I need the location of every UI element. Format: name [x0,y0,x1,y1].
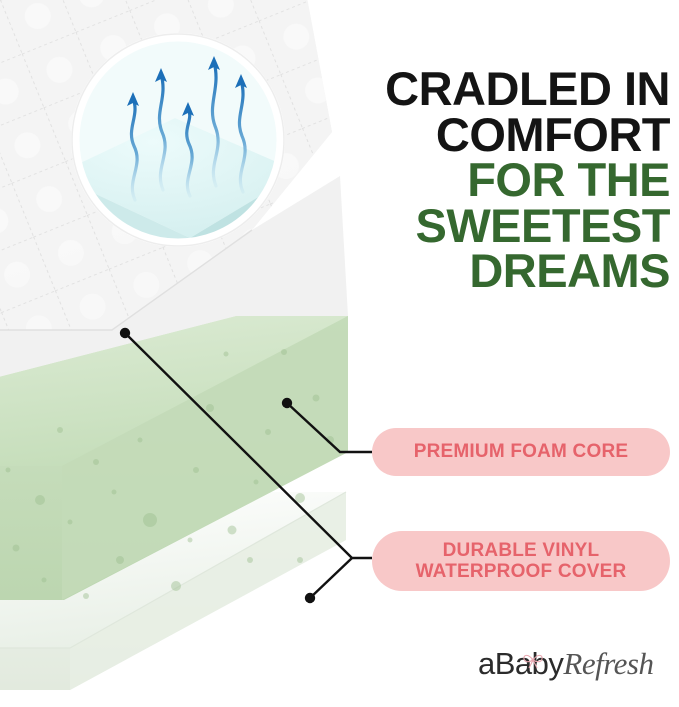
headline: CRADLED IN COMFORT FOR THE SWEETEST DREA… [325,66,670,294]
brand-logo: aBabyRefresh [478,646,668,692]
headline-line-1: CRADLED IN [325,66,670,112]
bow-icon [522,650,544,670]
callout-durable-vinyl-waterproof-cover: DURABLE VINYL WATERPROOF COVER [372,531,670,591]
headline-line-4: SWEETEST [325,203,670,249]
dot-quilted-top [120,328,130,338]
headline-line-5: DREAMS [325,248,670,294]
callout-premium-foam-core-label: PREMIUM FOAM CORE [414,441,629,463]
headline-line-2: COMFORT [325,112,670,158]
logo-prefix: a [478,646,495,681]
callout-vinyl-line-1: DURABLE VINYL [443,540,600,561]
brand-logo-text: aBabyRefresh [478,646,653,682]
headline-line-3: FOR THE [325,157,670,203]
product-infographic: CRADLED IN COMFORT FOR THE SWEETEST DREA… [0,0,679,707]
dot-foam-core [282,398,292,408]
callout-premium-foam-core: PREMIUM FOAM CORE [372,428,670,476]
callout-vinyl-line-2: WATERPROOF COVER [416,561,627,582]
dot-vinyl-cover [305,593,315,603]
connector-vinyl-lower [310,558,352,598]
logo-suffix: Refresh [563,646,653,681]
